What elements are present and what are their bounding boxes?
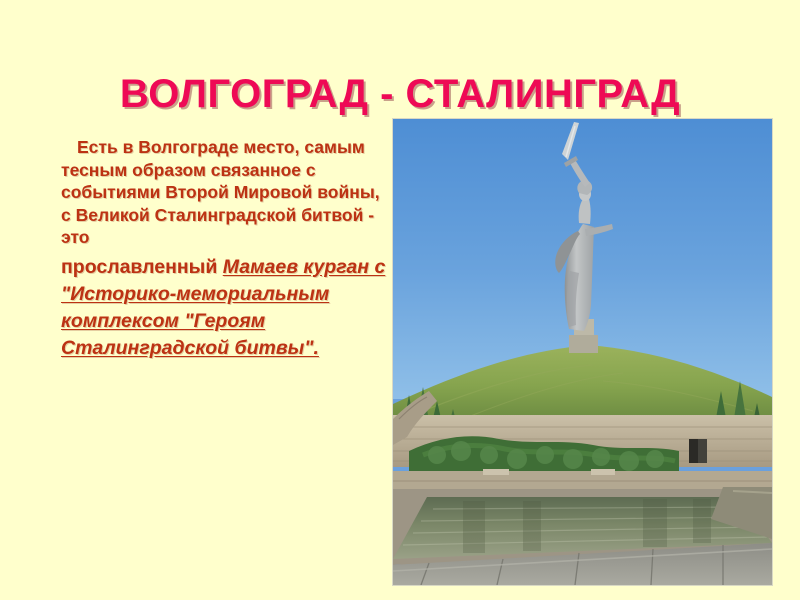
- paragraph-monument: прославленный Мамаев курган с "Историко-…: [61, 254, 386, 362]
- paragraph-monument-lead: прославленный: [61, 256, 223, 278]
- slide-canvas: ВОЛГОГРАД - СТАЛИНГРАД Есть в Волгограде…: [0, 0, 800, 600]
- paragraph-intro: Есть в Волгограде место, самым тесным об…: [61, 136, 386, 249]
- mamayev-kurgan-photo: [393, 119, 772, 585]
- photo-artwork: [393, 119, 772, 585]
- body-text-column: Есть в Волгограде место, самым тесным об…: [61, 136, 386, 362]
- page-title: ВОЛГОГРАД - СТАЛИНГРАД: [0, 71, 800, 117]
